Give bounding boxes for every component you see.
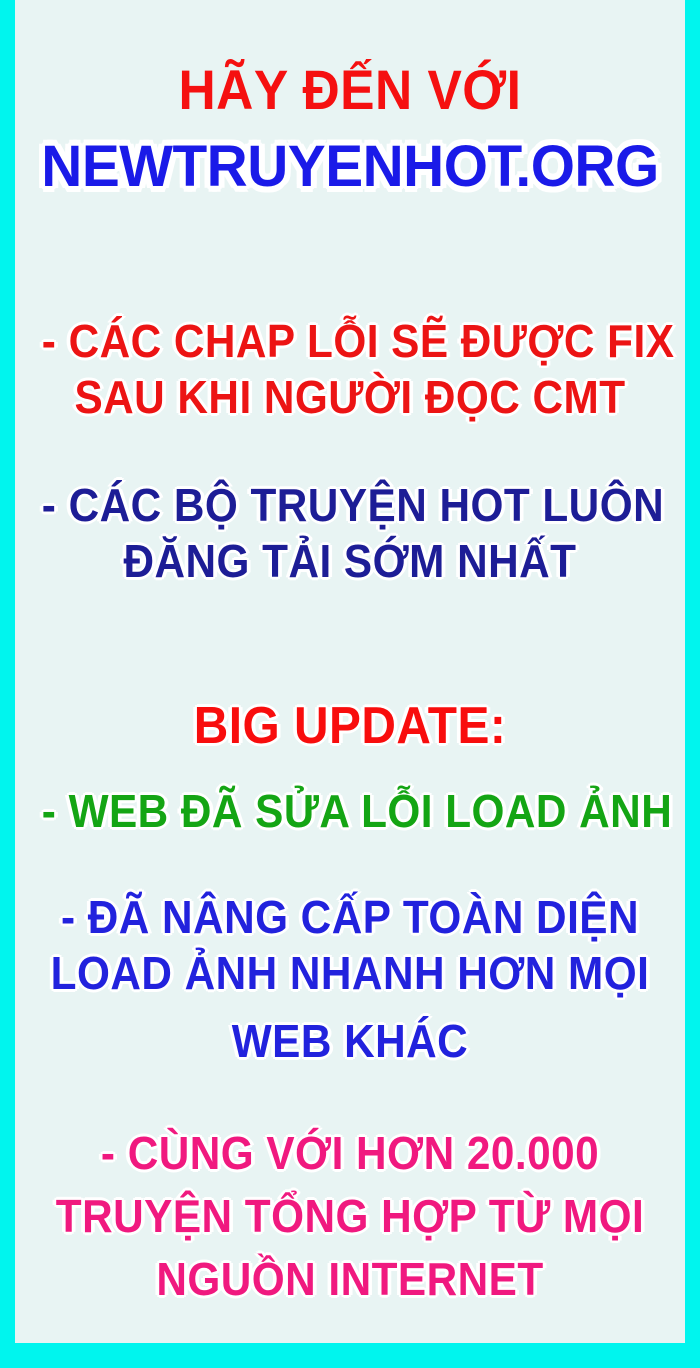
banner-content-panel: HÃY ĐẾN VỚI NEWTRUYENHOT.ORG - CÁC CHAP … xyxy=(15,0,685,1343)
fix-note-line-2: SAU KHI NGƯỜI ĐỌC CMT xyxy=(42,374,658,420)
hot-note-line-1: - CÁC BỘ TRUYỆN HOT LUÔN xyxy=(42,482,658,528)
update-item-2-line-1: - ĐÃ NÂNG CẤP TOÀN DIỆN xyxy=(42,894,658,940)
fix-note-line-1: - CÁC CHAP LỖI SẼ ĐƯỢC FIX xyxy=(42,318,658,364)
update-item-2-line-3: WEB KHÁC xyxy=(42,1018,658,1064)
promo-banner: HÃY ĐẾN VỚI NEWTRUYENHOT.ORG - CÁC CHAP … xyxy=(0,0,700,1368)
invite-headline: HÃY ĐẾN VỚI xyxy=(42,62,658,118)
site-name-link[interactable]: NEWTRUYENHOT.ORG xyxy=(22,138,679,196)
update-item-3-line-1: - CÙNG VỚI HƠN 20.000 xyxy=(42,1130,658,1176)
hot-note-line-2: ĐĂNG TẢI SỚM NHẤT xyxy=(42,538,658,584)
text-stack: HÃY ĐẾN VỚI NEWTRUYENHOT.ORG - CÁC CHAP … xyxy=(15,0,685,1343)
update-item-1-line-1: - WEB ĐÃ SỬA LỖI LOAD ẢNH xyxy=(42,788,658,834)
big-update-heading: BIG UPDATE: xyxy=(42,700,658,752)
update-item-3-line-2: TRUYỆN TỔNG HỢP TỪ MỌI xyxy=(42,1193,658,1239)
update-item-3-line-3: NGUỒN INTERNET xyxy=(42,1256,658,1302)
update-item-2-line-2: LOAD ẢNH NHANH HƠN MỌI xyxy=(42,950,658,996)
